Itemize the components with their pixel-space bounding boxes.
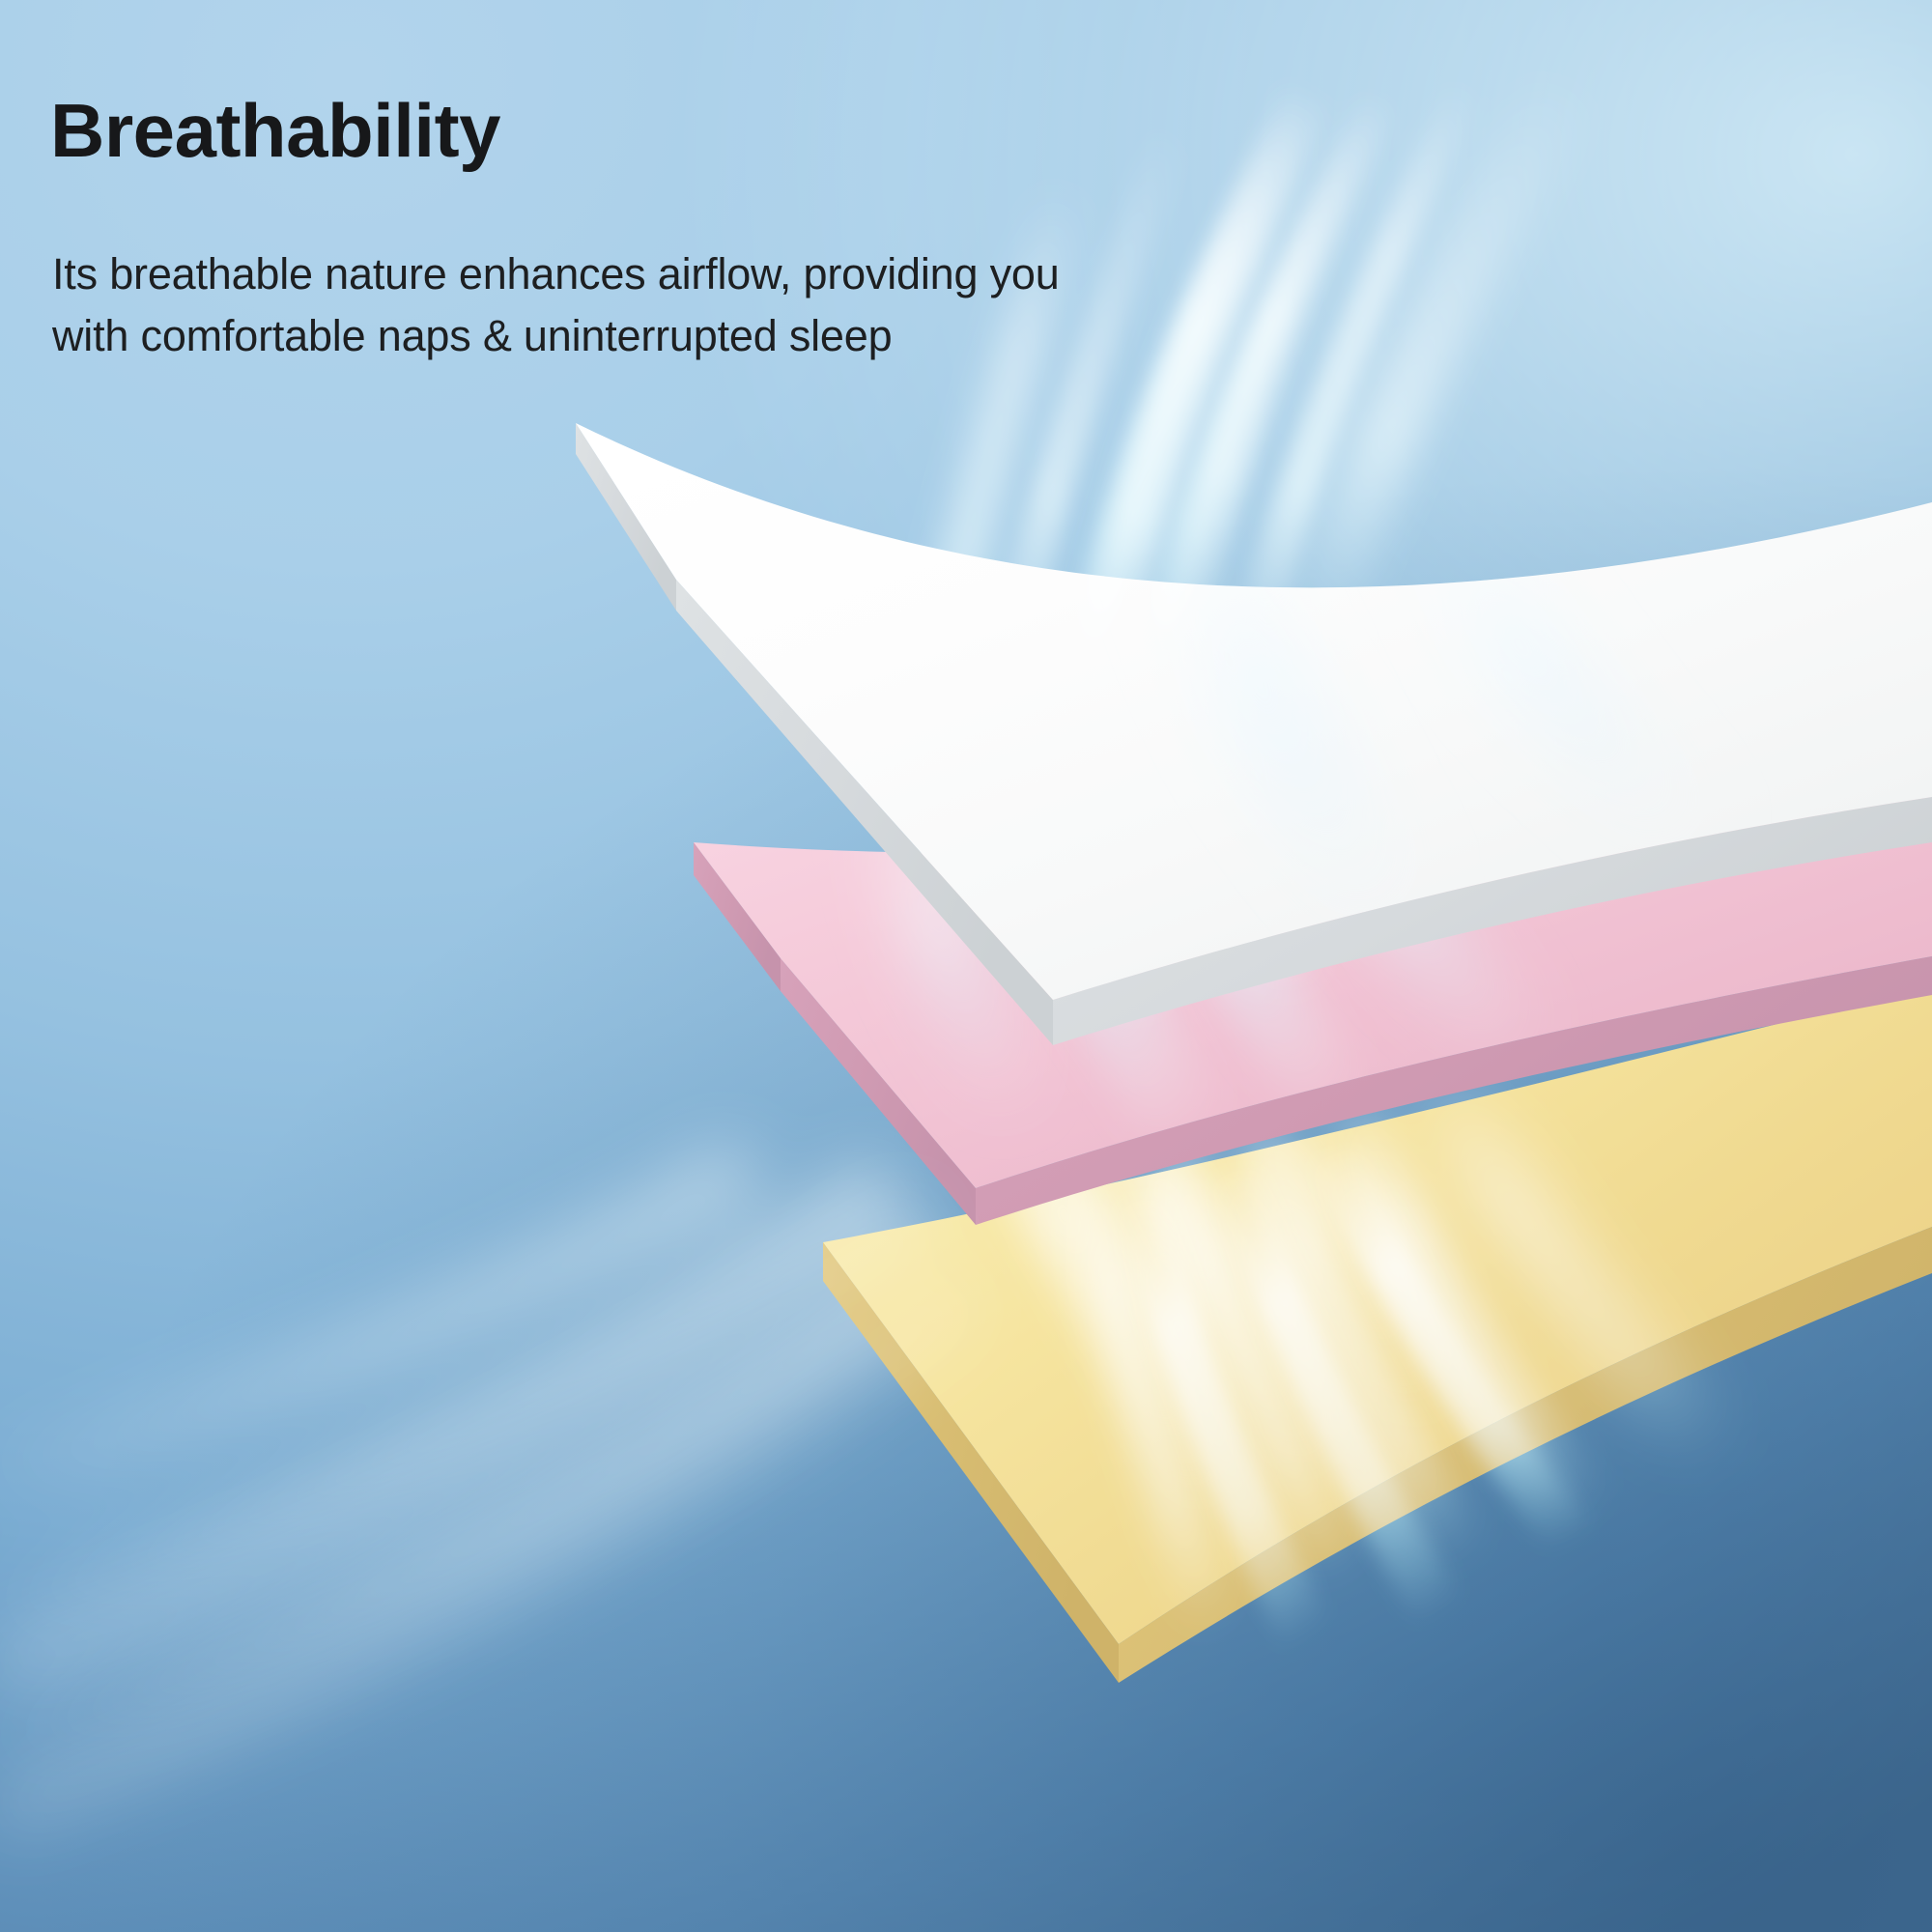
page-subtitle: Its breathable nature enhances airflow, … [52, 243, 1060, 367]
product-feature-banner: Breathability Its breathable nature enha… [0, 0, 1932, 1932]
page-subtitle-line-1: Its breathable nature enhances airflow, … [52, 243, 1060, 305]
page-subtitle-line-2: with comfortable naps & uninterrupted sl… [52, 305, 1060, 367]
page-title: Breathability [50, 93, 500, 170]
